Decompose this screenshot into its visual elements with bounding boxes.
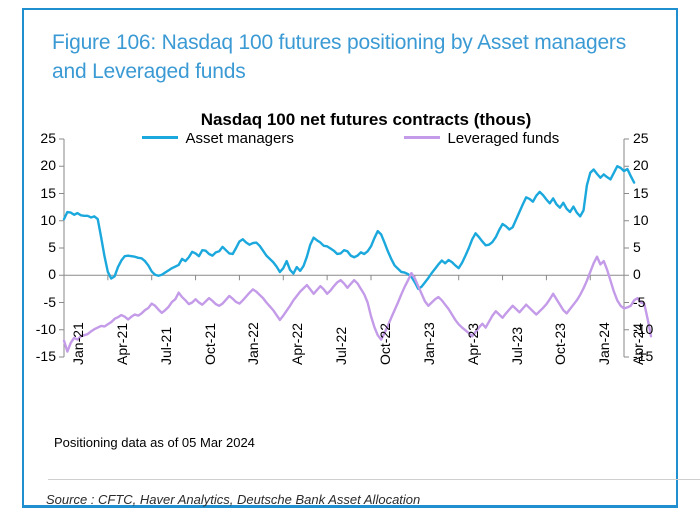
x-axis-tick-label: Oct-21 <box>202 323 218 365</box>
y-axis-tick-label-right: 25 <box>633 130 667 146</box>
y-axis-tick-label-left: -10 <box>22 321 56 337</box>
x-axis-tick-label: Apr-24 <box>630 323 646 365</box>
x-axis-tick-label: Jan-23 <box>421 322 437 365</box>
figure-container: Figure 106: Nasdaq 100 futures positioni… <box>22 8 678 508</box>
y-axis-tick-label-left: -5 <box>22 294 56 310</box>
x-axis-tick-label: Jul-23 <box>509 327 525 365</box>
y-axis-tick-label-left: 15 <box>22 185 56 201</box>
x-axis-tick-label: Apr-23 <box>465 323 481 365</box>
x-axis-tick-label: Oct-23 <box>552 323 568 365</box>
y-axis-tick-label-left: 25 <box>22 130 56 146</box>
y-axis-tick-label-right: 15 <box>633 185 667 201</box>
y-axis-tick-label-right: 20 <box>633 157 667 173</box>
y-axis-tick-label-right: 0 <box>633 266 667 282</box>
x-axis-tick-label: Jan-21 <box>70 322 86 365</box>
y-axis-tick-label-left: 5 <box>22 239 56 255</box>
positioning-note: Positioning data as of 05 Mar 2024 <box>54 435 255 450</box>
y-axis-tick-label-left: 10 <box>22 212 56 228</box>
y-axis-tick-label-left: 20 <box>22 157 56 173</box>
source-note: Source : CFTC, Haver Analytics, Deutsche… <box>46 492 420 507</box>
series-line-asset-managers <box>64 166 634 289</box>
x-axis-tick-label: Jan-24 <box>596 322 612 365</box>
x-axis-tick-label: Jan-22 <box>245 322 261 365</box>
y-axis-tick-label-right: -5 <box>633 294 667 310</box>
x-axis-tick-label: Oct-22 <box>377 323 393 365</box>
source-divider <box>48 479 700 480</box>
y-axis-tick-label-left: 0 <box>22 266 56 282</box>
y-axis-tick-label-right: 10 <box>633 212 667 228</box>
x-axis-tick-label: Jul-21 <box>158 327 174 365</box>
x-axis-tick-label: Apr-22 <box>289 323 305 365</box>
y-axis-tick-label-right: 5 <box>633 239 667 255</box>
x-axis-tick-label: Jul-22 <box>333 327 349 365</box>
y-axis-tick-label-left: -15 <box>22 348 56 364</box>
x-axis-tick-label: Apr-21 <box>114 323 130 365</box>
